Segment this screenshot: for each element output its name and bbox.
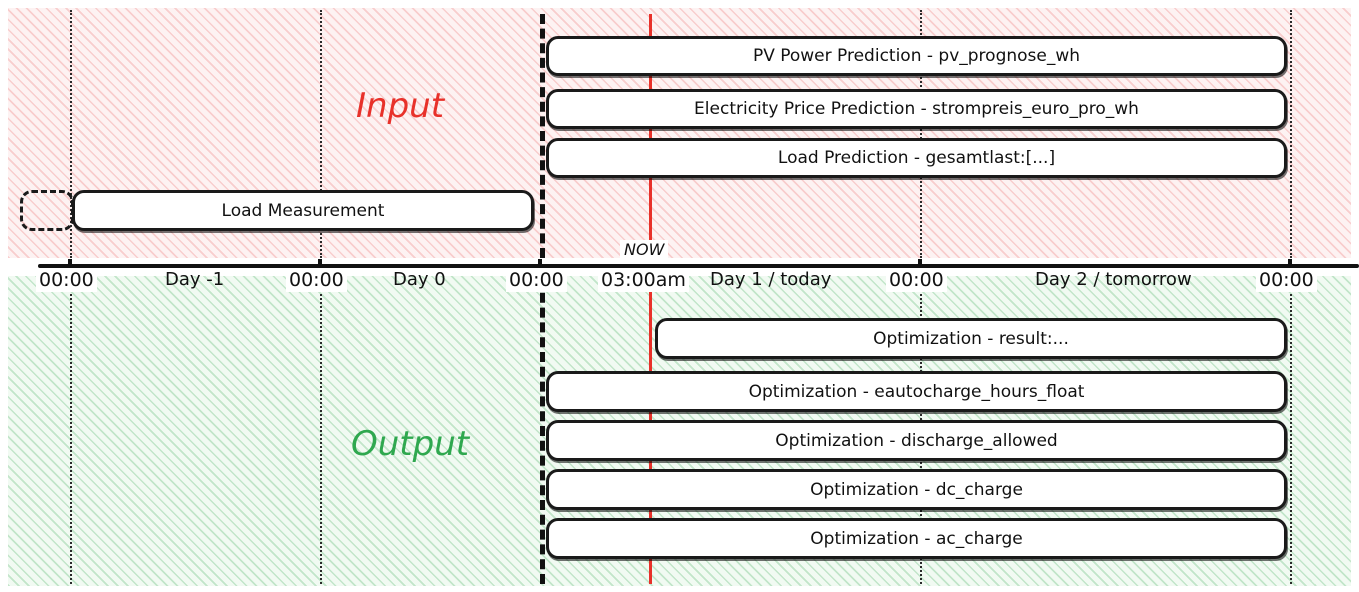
timeline-bar: Load Prediction - gesamtlast:[...] [546,138,1287,178]
timeline-diagram: 00:0000:0000:0000:0000:00 Day -1Day 0Day… [0,0,1359,592]
axis-time-label: 00:00 [36,268,97,292]
output-section-title: Output [351,424,469,464]
timeline-bar-placeholder [20,190,74,231]
input-section-title: Input [356,86,444,126]
gridline [540,278,545,584]
timeline-bar: Optimization - dc_charge [546,469,1287,510]
axis-day-label: Day 0 [393,268,446,292]
axis-day-label: Day 1 / today [710,268,831,292]
gridline [1290,278,1292,584]
timeline-bar: Optimization - discharge_allowed [546,420,1287,461]
timeline-bar: Optimization - eautocharge_hours_float [546,371,1287,412]
timeline-bar: Optimization - result:... [655,318,1287,359]
timeline-bar: PV Power Prediction - pv_prognose_wh [546,36,1287,76]
axis-day-label: Day 2 / tomorrow [1035,268,1192,292]
axis-time-label: 00:00 [886,268,947,292]
now-marker-label: NOW [620,240,668,259]
gridline [70,278,72,584]
axis-time-label: 00:00 [286,268,347,292]
gridline [1290,10,1292,258]
axis-day-label: Day -1 [165,268,224,292]
timeline-bar: Load Measurement [72,190,534,231]
timeline-bar: Optimization - ac_charge [546,518,1287,559]
timeline-bar: Electricity Price Prediction - stromprei… [546,89,1287,129]
now-marker-time: 03:00am [598,268,689,292]
gridline [540,14,545,258]
gridline [320,278,322,584]
axis-time-label: 00:00 [1256,268,1317,292]
axis-time-label: 00:00 [506,268,567,292]
